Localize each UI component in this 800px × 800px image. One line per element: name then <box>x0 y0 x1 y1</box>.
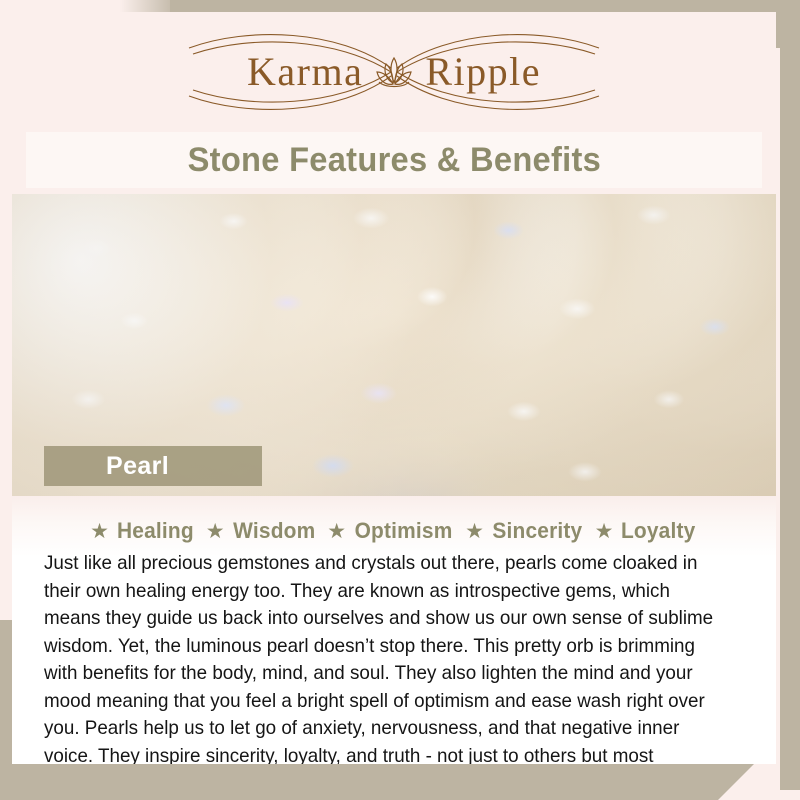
benefit-item-optimism: ★ Optimism <box>327 518 455 544</box>
content-card: Karma Ripple S <box>12 12 776 764</box>
benefit-label: Loyalty <box>621 518 696 544</box>
benefit-item-wisdom: ★ Wisdom <box>206 518 317 544</box>
frame-right-band <box>780 0 800 790</box>
stone-name-banner: Pearl <box>44 446 262 486</box>
star-icon: ★ <box>465 521 484 542</box>
benefit-label: Wisdom <box>233 518 315 544</box>
infographic-poster: Karma Ripple S <box>0 0 800 800</box>
benefits-list: ★ Healing ★ Wisdom ★ Optimism ★ Sincerit… <box>12 496 776 546</box>
benefit-label: Healing <box>117 518 194 544</box>
star-icon: ★ <box>206 521 225 542</box>
star-icon: ★ <box>327 521 346 542</box>
brand-logo: Karma Ripple <box>12 12 776 132</box>
star-icon: ★ <box>90 521 109 542</box>
benefit-item-healing: ★ Healing <box>90 518 196 544</box>
star-icon: ★ <box>595 521 614 542</box>
benefit-label: Optimism <box>355 518 453 544</box>
description-text: Just like all precious gemstones and cry… <box>44 550 725 764</box>
stone-name-label: Pearl <box>106 452 169 481</box>
brand-word-right: Ripple <box>425 52 541 92</box>
description-panel: ★ Healing ★ Wisdom ★ Optimism ★ Sincerit… <box>12 496 776 764</box>
page-title-band: Stone Features & Benefits <box>26 132 762 188</box>
lotus-icon <box>371 52 417 92</box>
benefit-item-sincerity: ★ Sincerity <box>465 518 585 544</box>
brand-word-left: Karma <box>247 52 363 92</box>
pearl-photo: Pearl <box>12 194 776 496</box>
benefit-label: Sincerity <box>492 518 582 544</box>
page-title: Stone Features & Benefits <box>187 141 600 180</box>
benefit-item-loyalty: ★ Loyalty <box>595 518 698 544</box>
frame-bottom-band <box>0 758 760 800</box>
